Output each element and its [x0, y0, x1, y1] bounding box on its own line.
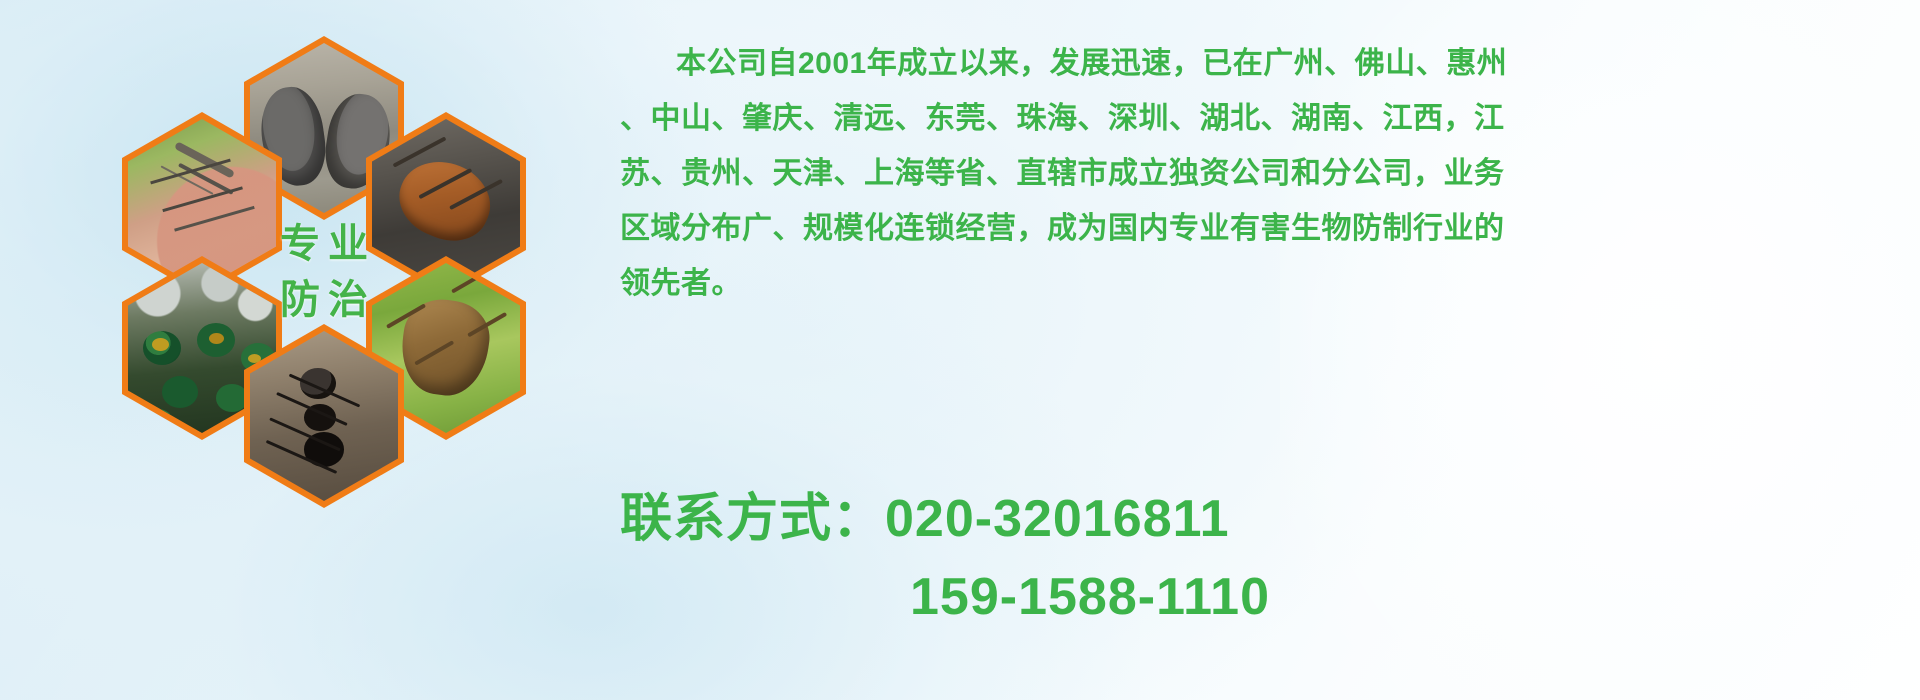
contact-primary-line: 联系方式：020-32016811	[620, 480, 1920, 558]
promo-banner: 专业 防治 本公司自2001年成立以来，发展迅速，已在广州、佛山、惠州 、中山、…	[0, 0, 1920, 700]
honeycomb-photo-collage: 专业 防治	[84, 8, 584, 568]
intro-line-1: 本公司自2001年成立以来，发展迅速，已在广州、佛山、惠州	[620, 36, 1920, 91]
intro-line-2: 、中山、肇庆、清远、东莞、珠海、深圳、湖北、湖南、江西，江	[620, 91, 1920, 146]
slogan-line-2: 防治	[272, 275, 376, 325]
slogan-line-1: 专业	[272, 219, 376, 269]
intro-line-4: 区域分布广、规模化连锁经营，成为国内专业有害生物防制行业的	[620, 201, 1920, 256]
contact-label: 联系方式：	[620, 490, 885, 548]
intro-paragraph: 本公司自2001年成立以来，发展迅速，已在广州、佛山、惠州 、中山、肇庆、清远、…	[620, 36, 1920, 311]
contact-block: 联系方式：020-32016811 159-1588-1110	[620, 480, 1920, 636]
intro-line-3: 苏、贵州、天津、上海等省、直辖市成立独资公司和分公司，业务	[620, 146, 1920, 201]
contact-phone-primary[interactable]: 020-32016811	[885, 490, 1230, 548]
contact-phone-secondary[interactable]: 159-1588-1110	[910, 568, 1270, 626]
intro-copy-block: 本公司自2001年成立以来，发展迅速，已在广州、佛山、惠州 、中山、肇庆、清远、…	[620, 36, 1920, 311]
contact-secondary-line: 159-1588-1110	[620, 558, 1920, 636]
intro-line-5: 领先者。	[620, 256, 1920, 311]
hex-inner-slogan: 专业 防治	[250, 187, 398, 357]
